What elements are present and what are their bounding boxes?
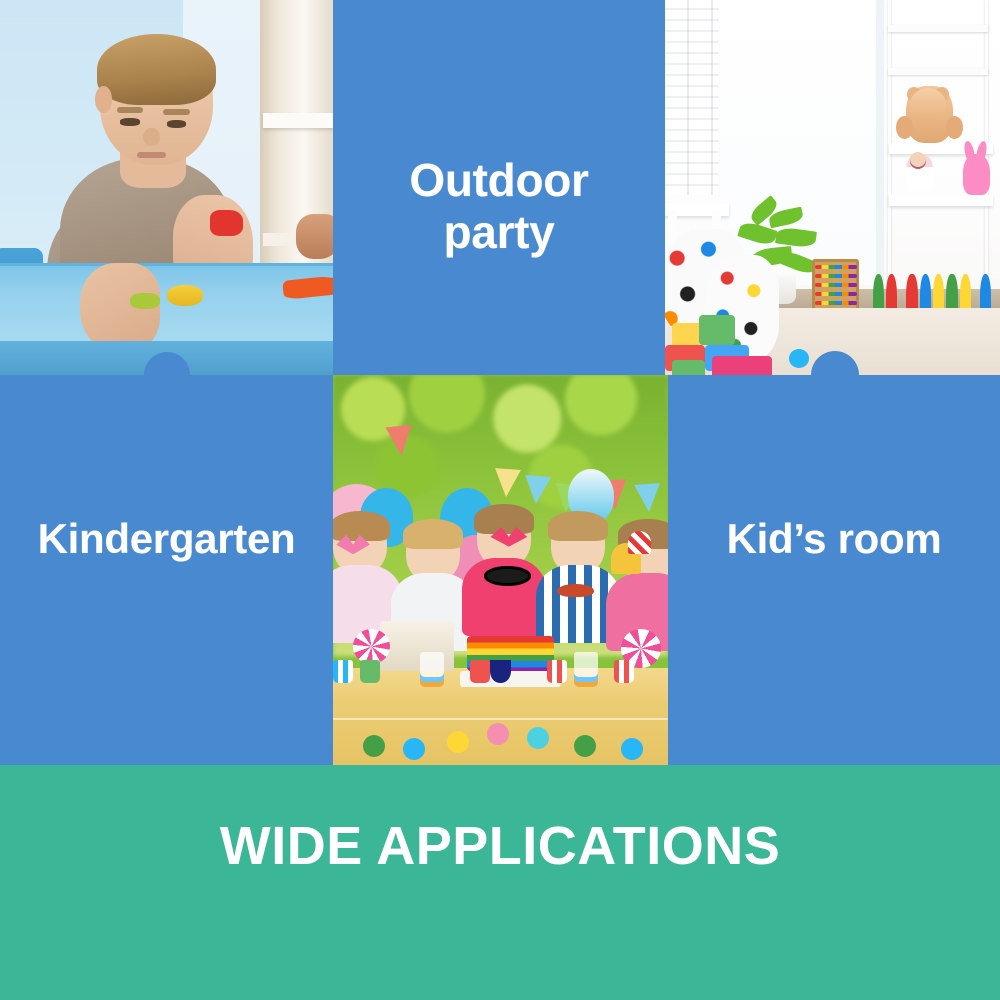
pom-pom	[527, 727, 549, 749]
bunting-flag	[493, 468, 521, 498]
pom-pom	[447, 731, 469, 753]
novelty-glasses-prop	[484, 566, 531, 586]
paper-cup	[360, 660, 380, 683]
teacup	[490, 660, 510, 683]
ladder-rail-left	[888, 0, 891, 308]
boy-hair	[97, 34, 217, 105]
party-photo	[333, 375, 668, 765]
candy-jar	[574, 652, 597, 687]
pom-pom	[487, 723, 509, 745]
playdough-yellow	[167, 285, 204, 306]
shelf-board-upper	[263, 113, 333, 128]
boy-eyebrow-right	[163, 109, 190, 115]
pom-pom	[403, 738, 425, 760]
pom-pom	[363, 735, 385, 757]
child-hair	[403, 519, 463, 549]
garland-string	[333, 718, 668, 720]
kids-room-tile[interactable]: Kid’s room	[668, 375, 1000, 765]
doll-head	[910, 152, 927, 169]
candy-jar	[420, 652, 443, 687]
outdoor-party-line1: Outdoor	[409, 154, 588, 206]
paper-cup	[470, 660, 490, 683]
paper-cup	[333, 660, 353, 683]
application-image: Outdoor party	[0, 0, 1000, 1000]
pom-pom-garland	[333, 710, 668, 757]
playdough-green	[130, 293, 160, 310]
abacus-row	[815, 274, 857, 278]
boy-mouth	[137, 152, 167, 158]
child-hair	[474, 504, 534, 534]
bunting-flag	[523, 475, 551, 505]
ladder-rung	[888, 68, 988, 75]
kindergarten-tile[interactable]: Kindergarten	[0, 375, 333, 765]
pom-pom	[574, 735, 596, 757]
boy-eye-right	[167, 120, 187, 128]
abacus-row	[815, 292, 857, 296]
window-frame	[876, 0, 884, 285]
pink-bunny-toy	[963, 154, 990, 195]
pom-pom	[621, 738, 643, 760]
shelf-middle	[889, 195, 993, 206]
novelty-moustache-prop	[557, 584, 594, 598]
boy-nose	[143, 128, 160, 147]
banner-title: WIDE APPLICATIONS	[0, 815, 1000, 877]
boy-eyebrow-left	[117, 107, 144, 113]
boy-playdough-photo	[0, 0, 333, 375]
boy-ear	[95, 86, 112, 112]
kindergarten-label: Kindergarten	[0, 515, 333, 562]
bunting-flag	[385, 424, 414, 457]
boy-eye-left	[120, 118, 140, 126]
abacus-row	[815, 265, 857, 269]
abacus-row	[815, 283, 857, 287]
teddy-bear-arm-right	[946, 116, 963, 139]
outdoor-party-line2: party	[444, 206, 555, 258]
foam-block	[712, 356, 772, 375]
teddy-bear-head	[910, 88, 947, 122]
paper-cup	[614, 660, 634, 683]
white-brick-wall	[665, 0, 722, 195]
wide-applications-banner: WIDE APPLICATIONS	[0, 765, 1000, 1000]
party-hat-prop	[628, 531, 651, 554]
outdoor-party-label: Outdoor party	[333, 155, 665, 258]
kids-room-label: Kid’s room	[668, 515, 1000, 562]
outdoor-party-tile[interactable]: Outdoor party	[333, 0, 665, 375]
teddy-bear-arm-left	[896, 116, 913, 139]
foam-block	[672, 360, 706, 375]
bunting-flag	[634, 483, 662, 513]
abacus-row	[815, 301, 857, 305]
child-hair	[548, 511, 608, 541]
foam-block	[699, 315, 736, 345]
paper-cup	[547, 660, 567, 683]
playroom-photo	[665, 0, 1000, 375]
ladder-rung	[888, 25, 988, 32]
lollipop	[353, 629, 390, 664]
playdough-red	[210, 210, 243, 236]
second-child-hand	[296, 214, 333, 259]
toy-ball	[789, 349, 809, 368]
